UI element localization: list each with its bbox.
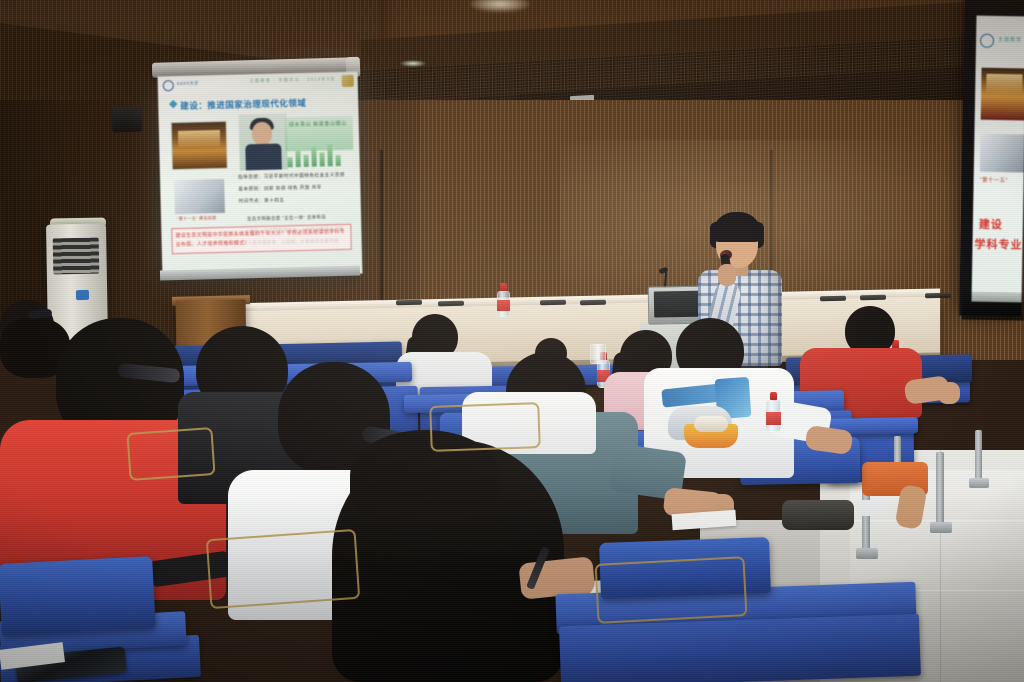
slide-thumbnail-secondary [174,179,225,214]
slide-portrait-photo [239,113,288,170]
right-slide-red-line-1: 建设 [979,216,1003,232]
seat-back-bottom-left [0,556,156,636]
desk-leg [936,452,944,528]
portrait-suit [245,143,282,170]
water-bottle [497,283,510,317]
slide-line-3: 时间节点：第十四五 [239,197,285,204]
water-bottle [766,392,781,432]
audience-hand-holding-pen [548,566,594,596]
audience-hand [938,382,960,404]
right-slide-logo-icon [980,34,994,48]
seat-frame-trim [595,556,748,624]
right-slide-thumbnail [980,134,1024,173]
slide-badge-icon [342,75,354,87]
slide-line-1: 指导思想：习近平新时代中国特色社会主义思想 [238,172,345,181]
presenter-hair [712,212,762,242]
wall-speaker [112,105,143,132]
right-slide-photo [981,68,1024,121]
slide-line-4: 生态文明融合度 "五位一体" 总体布局 [247,214,326,222]
slide-chart-bars [287,142,348,167]
right-slide-caption: "第十一五" [980,176,1008,184]
air-conditioner-vent [53,238,100,275]
drinking-glass [590,344,606,364]
stage-clip [580,300,606,305]
bottle-label [497,300,510,311]
stage-clip [438,301,464,306]
bag-on-desk [782,500,854,530]
slide-title: 建设：推进国家治理现代化领域 [180,96,348,112]
right-display-shadow [962,291,1024,320]
bottle-label [766,412,781,425]
slide-photo-auditorium [171,121,228,170]
stage-clip [860,295,886,300]
desk-foot [969,478,989,488]
air-conditioner-badge [76,290,89,300]
slide-thumb-caption: "第十一五" 建设成就 [177,215,216,222]
desk-foot [930,522,952,533]
seat-frame-trim [206,529,361,609]
slide-line-2: 基本原则：创新 协调 绿色 开放 共享 [238,184,322,192]
stage-clip [396,300,422,305]
desk-leg [975,430,982,484]
stage-clip [820,296,846,301]
tshirt-graphic-foam [694,416,728,432]
desk-panel-foreground [559,614,921,682]
desk-foot [856,548,878,559]
right-slide-tabs: 主题教育 [998,36,1022,43]
photograph-lecture-hall: XXXX大学 主题教育 · 专题学习 · 2019年9月 建设：推进国家治理现代… [0,0,1024,682]
right-slide-red-line-2: 学科专业 [974,236,1022,253]
stage-clip [540,300,566,305]
slide-bullet-icon [169,100,177,108]
stage-clip [925,293,951,298]
seat-frame-trim [126,427,215,481]
right-projection-screen: 主题教育 "第十一五" 建设 学科专业 [972,16,1024,303]
slide-logo-text: XXXX大学 [177,80,199,87]
seat-frame-trim [429,402,541,452]
audience-shoe [856,500,886,516]
presenter-hand [718,264,736,286]
left-projection-screen: XXXX大学 主题教育 · 专题学习 · 2019年9月 建设：推进国家治理现代… [158,72,363,279]
slide-green-caption: 绿水青山 就是金山银山 [289,120,347,130]
portrait-face [252,122,273,145]
slide-canvas: XXXX大学 主题教育 · 专题学习 · 2019年9月 建设：推进国家治理现代… [158,72,363,279]
